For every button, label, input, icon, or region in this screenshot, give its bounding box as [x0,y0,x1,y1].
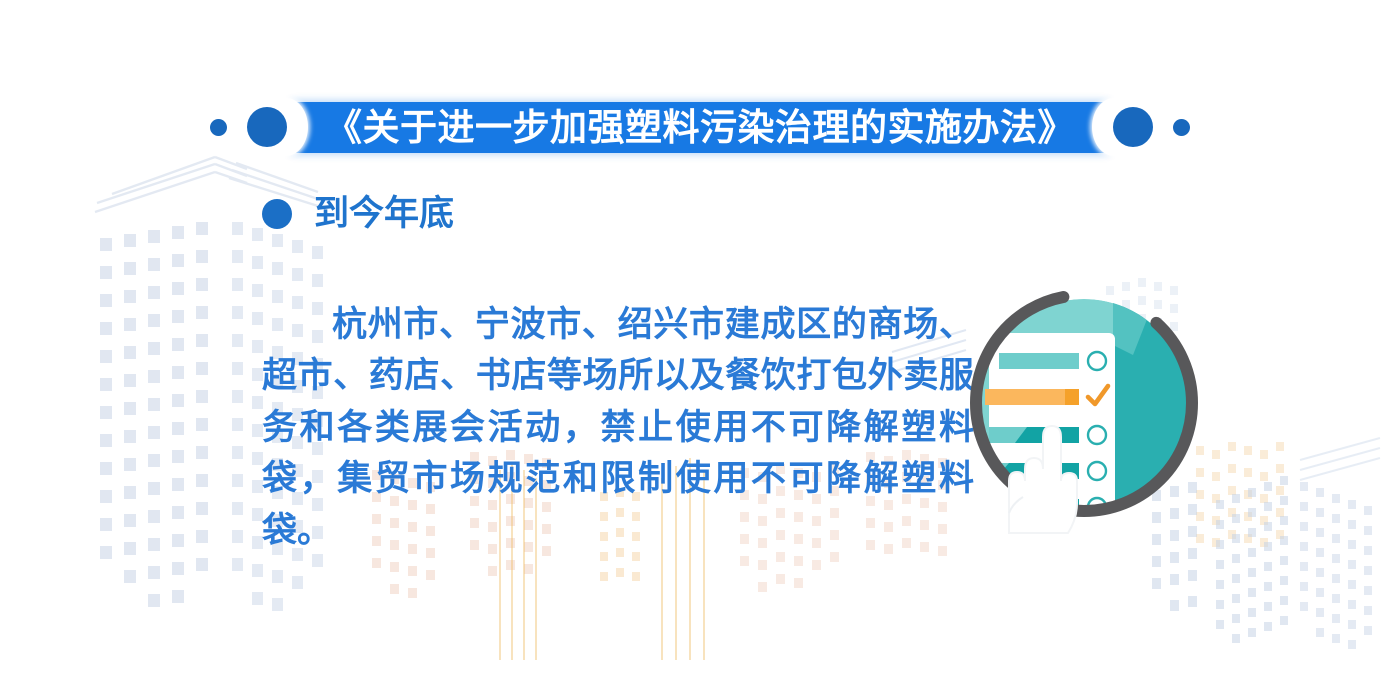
poster-canvas: 《关于进一步加强塑料污染治理的实施办法》 到今年底 杭州市、宁波市、绍兴市建成区… [0,0,1400,700]
ornament-dot-large-left [247,107,287,147]
section-heading-row: 到今年底 [262,196,454,231]
title-banner: 《关于进一步加强塑料污染治理的实施办法》 [291,96,1109,158]
checklist-magnifier-illustration [965,285,1215,535]
ornament-dot-large-right [1113,107,1153,147]
section-bullet-icon [262,199,292,229]
section-heading: 到今年底 [314,196,454,231]
page-title: 《关于进一步加强塑料污染治理的实施办法》 [325,109,1075,146]
section-body-paragraph: 杭州市、宁波市、绍兴市建成区的商场、超市、药店、书店等场所以及餐饮打包外卖服务和… [262,299,974,556]
checklist-bar-1 [999,353,1079,369]
checklist-bar-2 [985,389,1079,405]
